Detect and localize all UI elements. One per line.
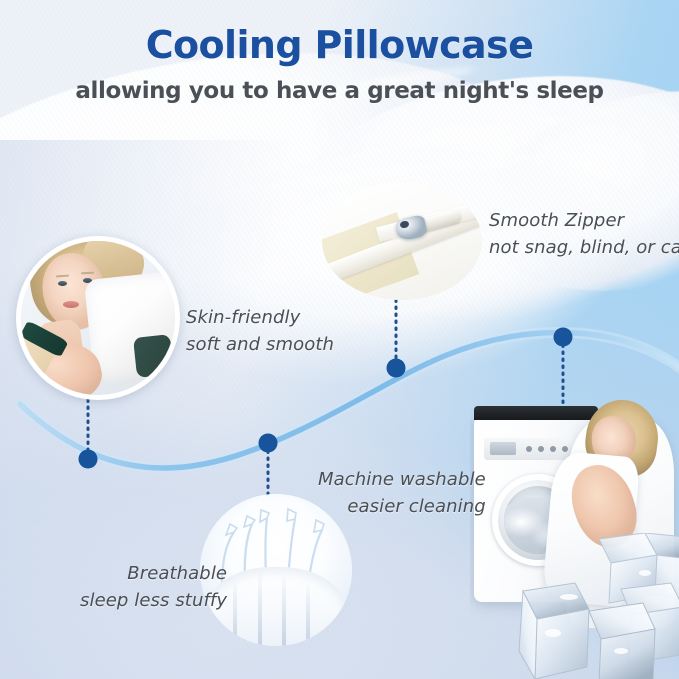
feature-label-line2: soft and smooth [186, 331, 334, 358]
header-block: Cooling Pillowcase allowing you to have … [0, 26, 679, 104]
washing-machine-knob [562, 446, 568, 452]
page-title: Cooling Pillowcase [0, 26, 679, 66]
eyebrow-shape [81, 271, 94, 274]
woman-resting-on-pillow-photo [16, 236, 180, 400]
feature-label-line1: Skin-friendly [186, 307, 300, 328]
cloth-fold [258, 570, 262, 646]
cloth-fold [233, 579, 237, 646]
feature-label-line1: Smooth Zipper [489, 210, 624, 231]
airflow-arrowhead [314, 520, 324, 532]
airflow-arrowhead [244, 516, 255, 527]
washing-machine-knob [538, 446, 544, 452]
pillow-shadow-shape [133, 335, 174, 379]
feature-label-machine-washable: Machine washable easier cleaning [318, 466, 486, 521]
airflow-arrowhead [287, 509, 296, 521]
feature-label-line2: easier cleaning [318, 493, 486, 520]
washing-machine-top [474, 406, 598, 420]
eye-shape [58, 281, 67, 286]
washing-machine-knob [550, 446, 556, 452]
lips-shape [63, 301, 79, 308]
ice-cube [589, 603, 655, 679]
cloth-fold [306, 582, 310, 646]
feature-label-skin-friendly: Skin-friendly soft and smooth [186, 304, 334, 359]
airflow-arrowhead [226, 524, 237, 535]
feature-label-breathable: Breathable sleep less stuffy [80, 560, 227, 615]
feature-label-line2: not snag, blind, or catch [489, 234, 679, 261]
washing-machine-display [490, 442, 516, 455]
feature-label-line1: Breathable [127, 563, 227, 584]
cloth-fold [282, 573, 286, 646]
feature-label-smooth-zipper: Smooth Zipper not snag, blind, or catch [489, 207, 679, 262]
page-subtitle: allowing you to have a great night's sle… [0, 78, 679, 104]
washing-machine-knob [526, 446, 532, 452]
feature-label-line2: sleep less stuffy [80, 587, 227, 614]
feature-label-line1: Machine washable [318, 469, 486, 490]
ice-cubes-illustration [495, 533, 679, 679]
infographic-canvas: Cooling Pillowcase allowing you to have … [0, 0, 679, 679]
zipper-closeup-photo [322, 182, 482, 300]
